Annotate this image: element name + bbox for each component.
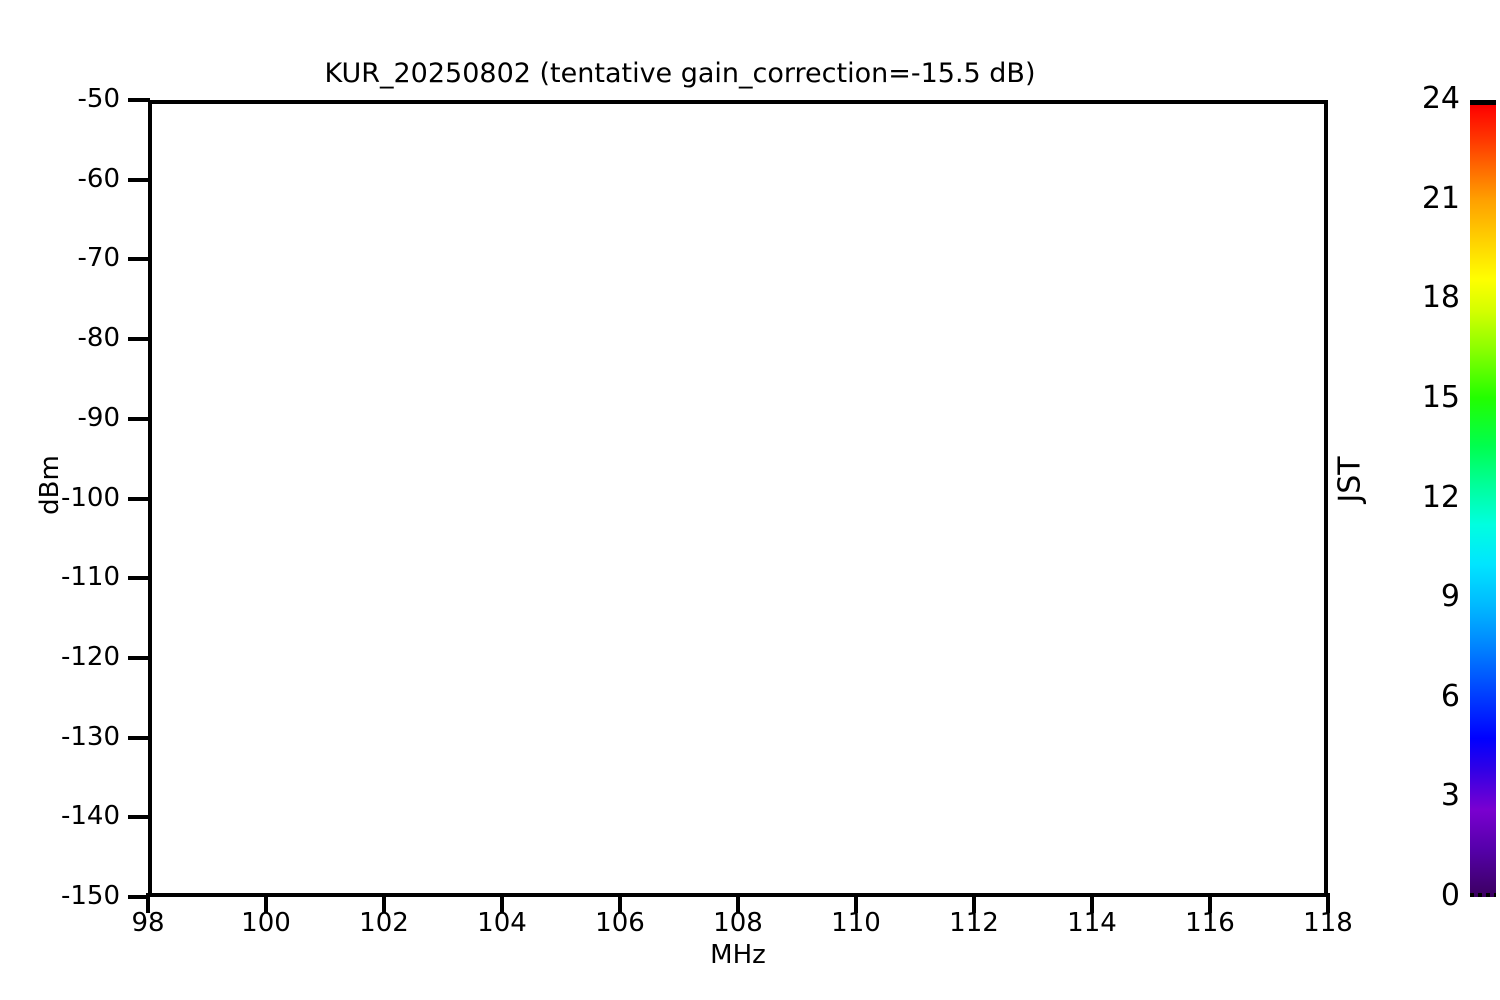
x-tick-label: 102	[324, 908, 444, 938]
plot-figure: KUR_20250802 (tentative gain_correction=…	[0, 0, 1500, 1000]
x-tick-label: 104	[442, 908, 562, 938]
y-tick-label: -110	[0, 562, 120, 592]
x-tick-label: 116	[1150, 908, 1270, 938]
y-tick-mark	[128, 337, 150, 341]
y-tick-mark	[128, 497, 150, 501]
colorbar-tick-label: 3	[1380, 778, 1460, 813]
x-tick-label: 98	[88, 908, 208, 938]
y-tick-label: -80	[0, 323, 120, 353]
y-tick-label: -150	[0, 881, 120, 911]
y-tick-label: -50	[0, 84, 120, 114]
x-tick-label: 112	[914, 908, 1034, 938]
y-tick-mark	[128, 98, 150, 102]
y-tick-label: -60	[0, 164, 120, 194]
colorbar-tick-label: 0	[1380, 878, 1460, 913]
y-tick-label: -130	[0, 722, 120, 752]
colorbar-tick-label: 24	[1380, 81, 1460, 116]
x-tick-label: 114	[1032, 908, 1152, 938]
y-tick-mark	[128, 576, 150, 580]
y-tick-mark	[128, 736, 150, 740]
colorbar-gradient	[1470, 100, 1496, 897]
y-tick-mark	[128, 656, 150, 660]
y-tick-label: -70	[0, 243, 120, 273]
x-tick-label: 106	[560, 908, 680, 938]
y-tick-label: -120	[0, 642, 120, 672]
x-tick-label: 118	[1268, 908, 1388, 938]
y-tick-label: -140	[0, 801, 120, 831]
colorbar-tick-label: 21	[1380, 181, 1460, 216]
colorbar-bottom-edge	[1470, 893, 1496, 897]
x-tick-label: 108	[678, 908, 798, 938]
colorbar-tick-label: 12	[1380, 480, 1460, 515]
colorbar-tick-label: 18	[1380, 280, 1460, 315]
colorbar-title: JST	[1333, 420, 1368, 540]
x-tick-label: 110	[796, 908, 916, 938]
colorbar-tick-label: 15	[1380, 380, 1460, 415]
plot-frame	[148, 100, 1328, 897]
y-tick-mark	[128, 257, 150, 261]
colorbar-tick-label: 6	[1380, 679, 1460, 714]
y-axis-title: dBm	[35, 425, 65, 545]
page-title: KUR_20250802 (tentative gain_correction=…	[0, 58, 1360, 89]
y-tick-mark	[128, 178, 150, 182]
x-tick-label: 100	[206, 908, 326, 938]
x-axis-title: MHz	[678, 940, 798, 970]
y-tick-mark	[128, 815, 150, 819]
y-tick-mark	[128, 417, 150, 421]
colorbar-tick-label: 9	[1380, 579, 1460, 614]
